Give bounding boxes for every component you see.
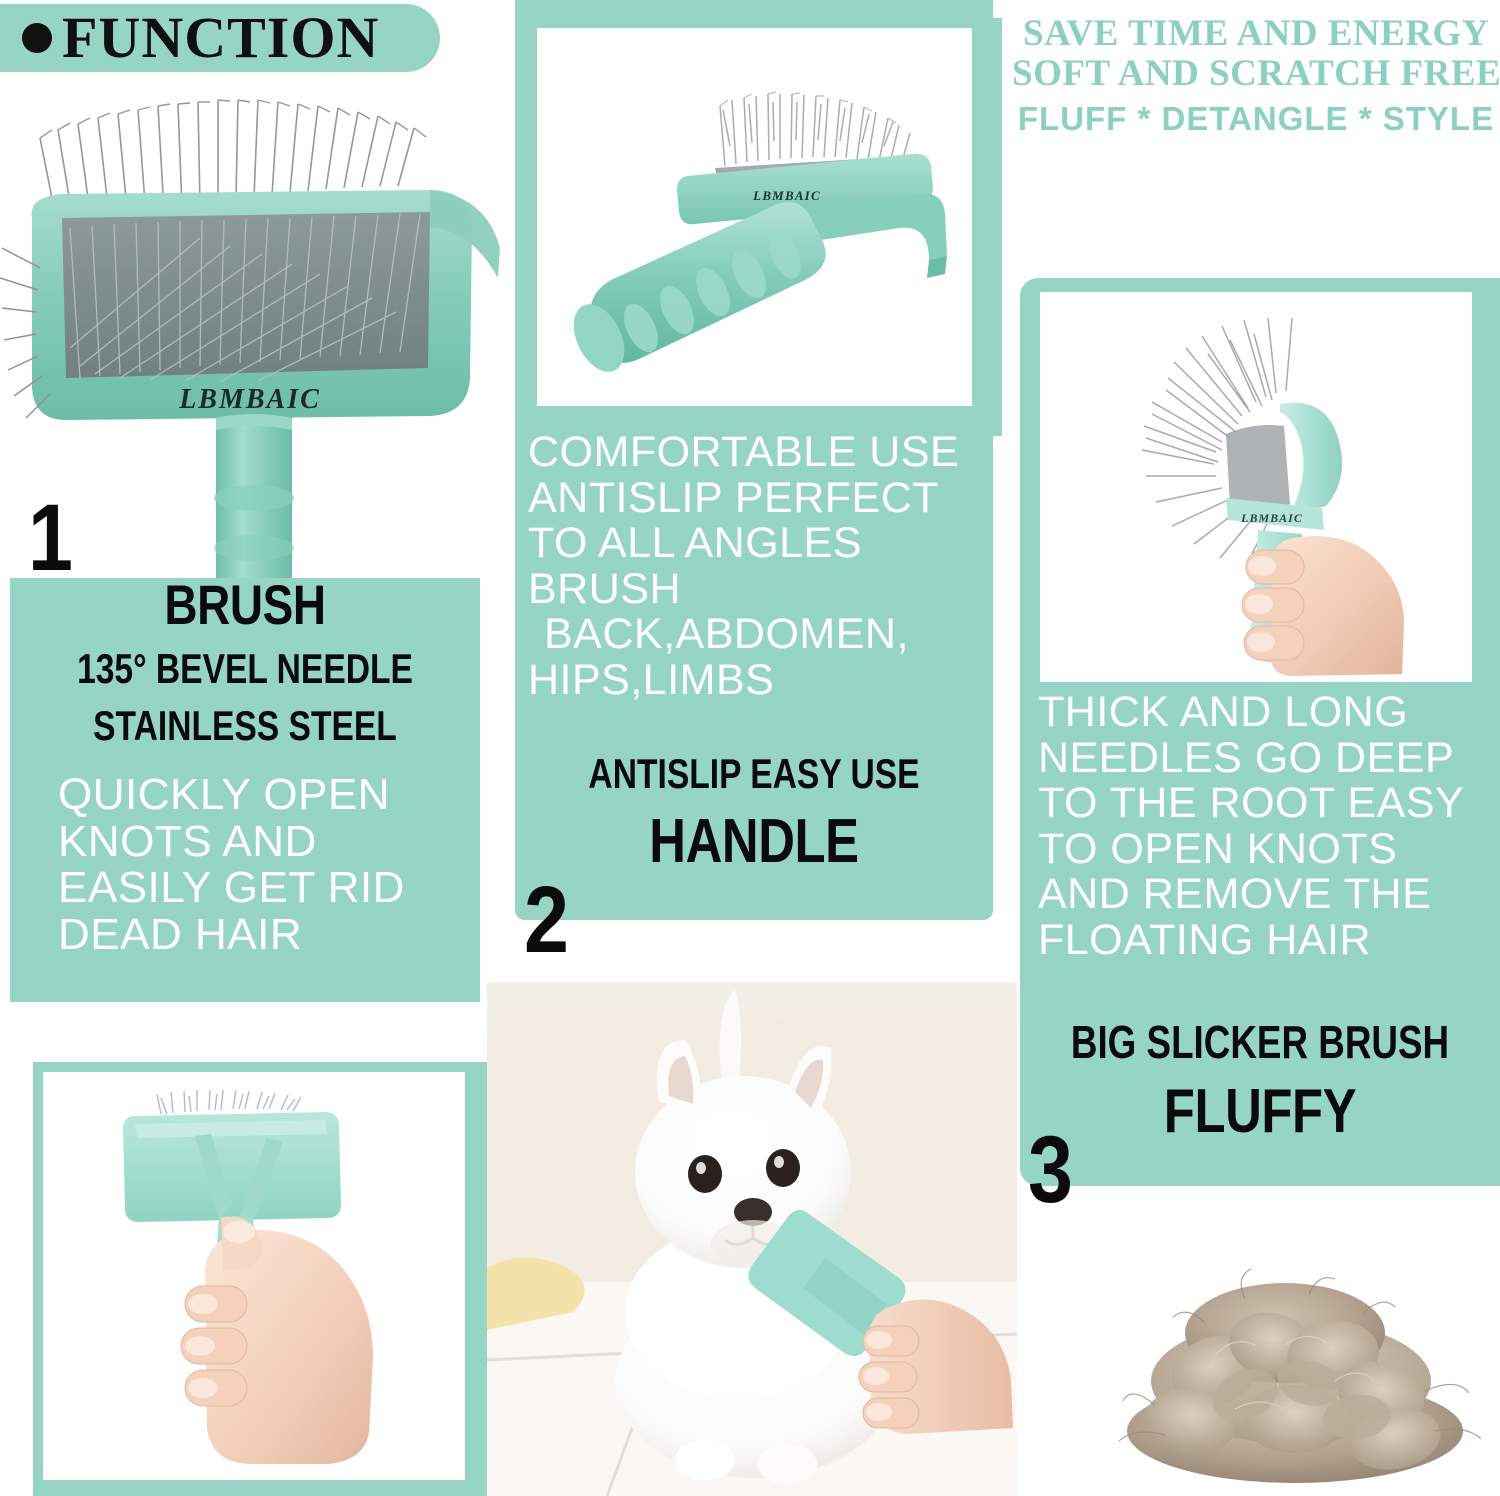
panel-1-subtitle-1: 135° BEVEL NEEDLE — [57, 645, 433, 693]
panel-2-subtitle-1: ANTISLIP EASY USE — [563, 750, 945, 798]
panel-2-body-line: HIPS,LIMBS — [528, 658, 988, 704]
brand-engraving-side: LBMBAIC — [752, 188, 821, 203]
function-label: FUNCTION — [62, 9, 379, 67]
brand-engraving-hand: LBMBAIC — [1240, 511, 1303, 525]
panel-2-body-line: ANTISLIP PERFECT — [528, 476, 988, 522]
panel-3-body-line: NEEDLES GO DEEP — [1038, 736, 1498, 782]
panel-3-body-line: TO THE ROOT EASY — [1038, 781, 1498, 827]
brand-engraving: LBMBAIC — [178, 384, 321, 415]
photo-brush-main: LBMBAIC — [0, 78, 505, 578]
tagline-line-1: SAVE TIME AND ENERGY — [1012, 14, 1500, 54]
panel-2-body-line: BRUSH — [528, 567, 988, 613]
panel-1-body-line: EASILY GET RID — [58, 865, 478, 912]
panel-1-body-line: QUICKLY OPEN — [58, 772, 478, 819]
panel-1-body-line: DEAD HAIR — [58, 912, 478, 959]
panel-2-title: HANDLE — [558, 806, 950, 877]
panel-3-body-line: AND REMOVE THE — [1038, 872, 1498, 918]
photo-dog-grooming — [487, 982, 1017, 1496]
hand-back-illustration — [43, 1072, 465, 1480]
bullet-dot-icon — [22, 23, 52, 53]
brush-side-illustration: LBMBAIC — [537, 28, 972, 406]
dog-illustration — [487, 982, 1017, 1496]
hair-pile-illustration — [1095, 1195, 1495, 1495]
infographic-canvas: LBMBAIC — [0, 0, 1500, 1496]
panel-1-body-line: KNOTS AND — [58, 819, 478, 866]
panel-3-title: FLUFFY — [1063, 1076, 1457, 1147]
panel-1-subtitle-2: STAINLESS STEEL — [57, 702, 433, 750]
step-number-3: 3 — [1028, 1130, 1073, 1211]
panel-3-body-line: THICK AND LONG — [1038, 690, 1498, 736]
panel-2-body-line: BACK,ABDOMEN, — [528, 612, 988, 658]
tagline-line-2: SOFT AND SCRATCH FREE — [1012, 54, 1500, 94]
panel-3-subtitle-1: BIG SLICKER BRUSH — [1068, 1015, 1452, 1069]
photo-hand-vertical: LBMBAIC — [1030, 282, 1500, 712]
step-number-1: 1 — [28, 498, 73, 579]
panel-1-title: BRUSH — [52, 572, 437, 637]
panel-3-body-line: TO OPEN KNOTS — [1038, 827, 1498, 873]
panel-1-body: QUICKLY OPEN KNOTS AND EASILY GET RID DE… — [58, 772, 478, 959]
antislip-grip — [563, 202, 825, 380]
marketing-tagline-block: SAVE TIME AND ENERGY SOFT AND SCRATCH FR… — [1012, 14, 1500, 138]
panel-2-body-line: COMFORTABLE USE — [528, 430, 988, 476]
panel-3-body-line: FLOATING HAIR — [1038, 918, 1498, 964]
photo-hair-pile — [1095, 1195, 1495, 1495]
function-badge: FUNCTION — [0, 4, 440, 72]
photo-hand-back — [33, 1062, 495, 1496]
panel-3-body: THICK AND LONG NEEDLES GO DEEP TO THE RO… — [1038, 690, 1498, 963]
tagline-line-3: FLUFF * DETANGLE * STYLE — [1012, 100, 1500, 138]
panel-2-body-line: TO ALL ANGLES — [528, 521, 988, 567]
hand-brush-illustration: LBMBAIC — [1040, 292, 1472, 682]
step-number-2: 2 — [524, 880, 569, 961]
panel-2-body: COMFORTABLE USE ANTISLIP PERFECT TO ALL … — [528, 430, 988, 703]
brush-main-illustration: LBMBAIC — [0, 78, 505, 578]
photo-brush-side: LBMBAIC — [527, 18, 1002, 436]
